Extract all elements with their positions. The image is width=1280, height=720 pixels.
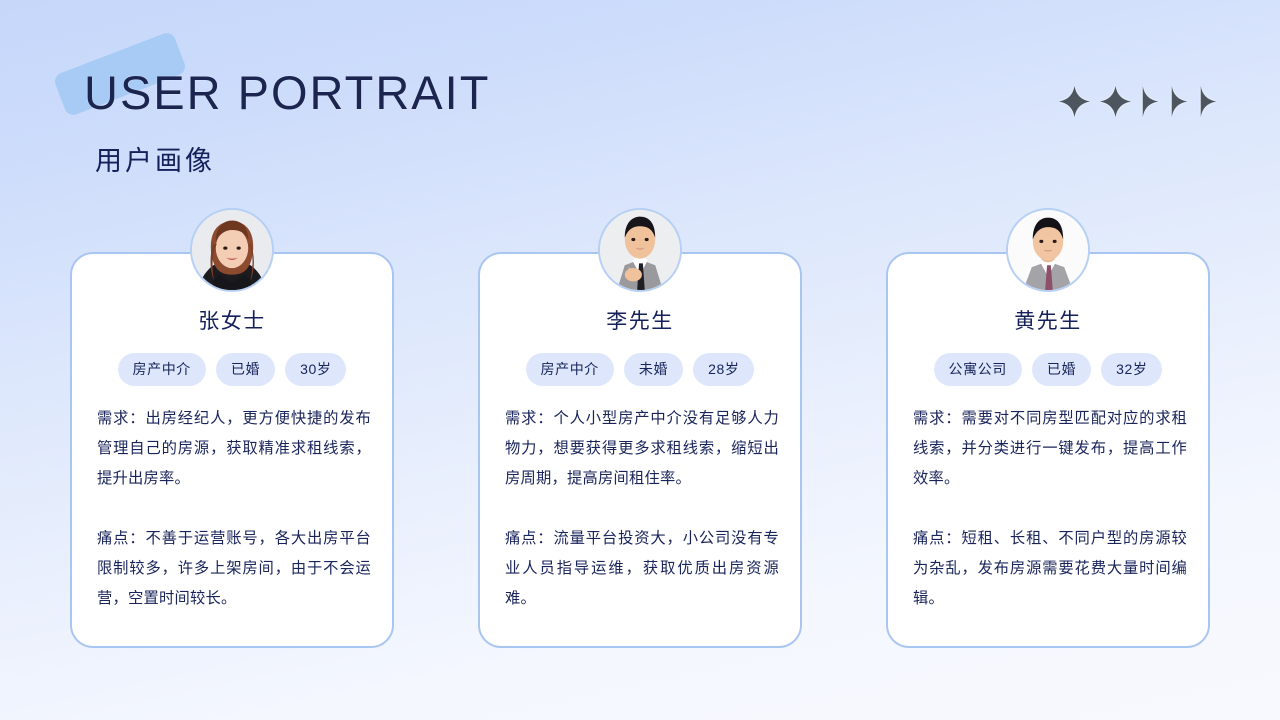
tag-marital-status: 已婚 [1032,353,1091,386]
tag-marital-status: 已婚 [216,353,275,386]
persona-needs: 需求：个人小型房产中介没有足够人力物力，想要获得更多求租线索，缩短出房周期，提高… [505,404,779,494]
page-title: USER PORTRAIT [84,69,490,116]
four-point-star-icon [1059,86,1090,117]
half-star-right-icon [1170,86,1189,117]
persona-needs: 需求：出房经纪人，更方便快捷的发布管理自己的房源，获取精准求租线索，提升出房率。 [97,404,371,494]
page-subtitle: 用户画像 [95,148,215,175]
decorative-shapes [1059,82,1218,120]
persona-card[interactable]: 黄先生 公寓公司 已婚 32岁 需求：需要对不同房型匹配对应的求租线索，并分类进… [886,252,1210,648]
persona-painpoints: 痛点：流量平台投资大，小公司没有专业人员指导运维，获取优质出房资源难。 [505,524,779,614]
tag-age: 30岁 [285,353,346,386]
persona-body: 需求：需要对不同房型匹配对应的求租线索，并分类进行一键发布，提高工作效率。 痛点… [913,404,1187,614]
half-star-right-icon [1199,86,1218,117]
persona-tags: 房产中介 未婚 28岁 [480,353,800,386]
tag-age: 32岁 [1101,353,1162,386]
persona-tags: 公寓公司 已婚 32岁 [888,353,1208,386]
persona-card[interactable]: 李先生 房产中介 未婚 28岁 需求：个人小型房产中介没有足够人力物力，想要获得… [478,252,802,648]
four-point-star-icon [1100,86,1131,117]
persona-card[interactable]: 张女士 房产中介 已婚 30岁 需求：出房经纪人，更方便快捷的发布管理自己的房源… [70,252,394,648]
tag-marital-status: 未婚 [624,353,683,386]
half-star-right-icon [1141,86,1160,117]
slide-user-portrait: USER PORTRAIT 用户画像 [0,0,1280,720]
persona-name: 李先生 [480,311,800,332]
tag-occupation: 房产中介 [118,353,206,386]
persona-tags: 房产中介 已婚 30岁 [72,353,392,386]
persona-card-row: 张女士 房产中介 已婚 30岁 需求：出房经纪人，更方便快捷的发布管理自己的房源… [0,252,1280,648]
persona-painpoints: 痛点：短租、长租、不同户型的房源较为杂乱，发布房源需要花费大量时间编辑。 [913,524,1187,614]
persona-body: 需求：出房经纪人，更方便快捷的发布管理自己的房源，获取精准求租线索，提升出房率。… [97,404,371,614]
avatar [1006,208,1090,292]
avatar [190,208,274,292]
tag-age: 28岁 [693,353,754,386]
persona-name: 黄先生 [888,311,1208,332]
persona-painpoints: 痛点：不善于运营账号，各大出房平台限制较多，许多上架房间，由于不会运营，空置时间… [97,524,371,614]
tag-occupation: 公寓公司 [934,353,1022,386]
avatar [598,208,682,292]
tag-occupation: 房产中介 [526,353,614,386]
persona-needs: 需求：需要对不同房型匹配对应的求租线索，并分类进行一键发布，提高工作效率。 [913,404,1187,494]
persona-body: 需求：个人小型房产中介没有足够人力物力，想要获得更多求租线索，缩短出房周期，提高… [505,404,779,614]
persona-name: 张女士 [72,311,392,332]
slide-header: USER PORTRAIT 用户画像 [0,0,1280,200]
